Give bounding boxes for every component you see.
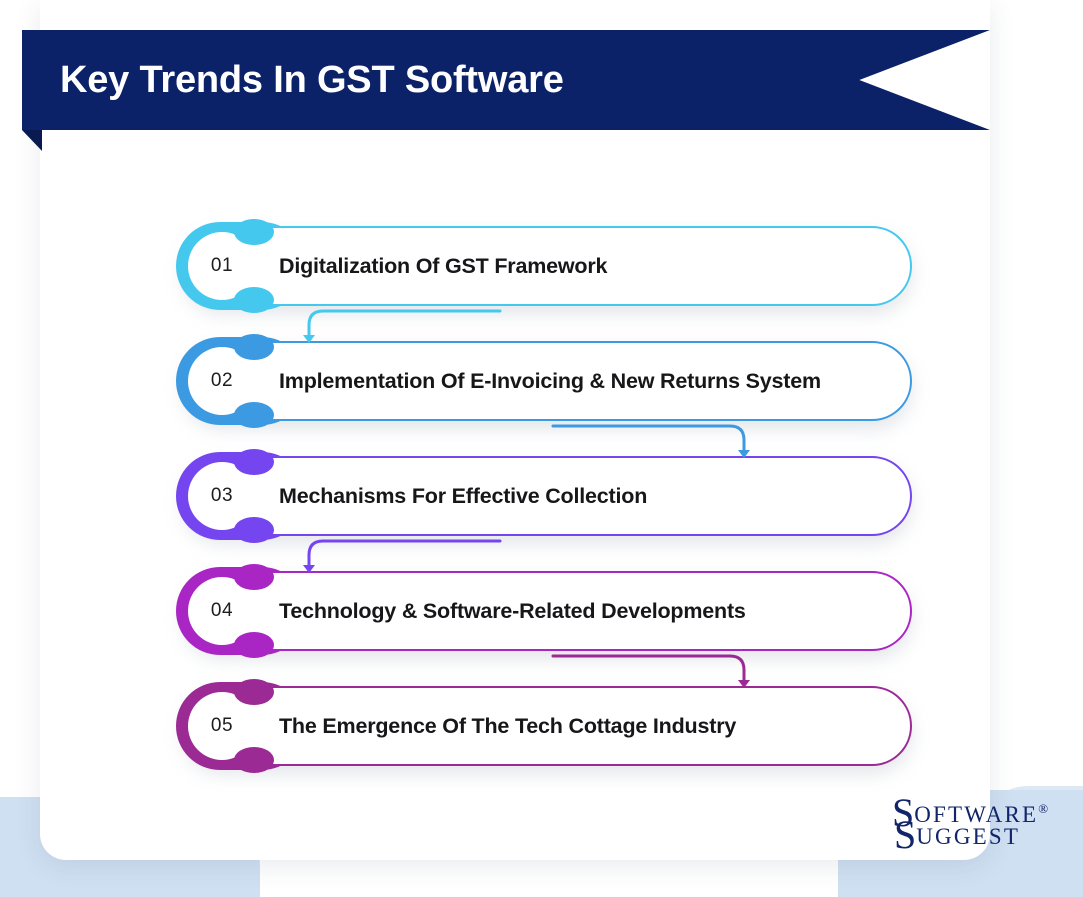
trend-row[interactable]: 03Mechanisms For Effective Collection <box>176 452 912 540</box>
trend-row[interactable]: 05The Emergence Of The Tech Cottage Indu… <box>176 682 912 770</box>
trend-row-number: 01 <box>188 232 256 300</box>
trend-row[interactable]: 04Technology & Software-Related Developm… <box>176 567 912 655</box>
trend-connector-arrow <box>295 535 505 585</box>
trend-row[interactable]: 02Implementation Of E-Invoicing & New Re… <box>176 337 912 425</box>
trend-connector-arrow <box>548 420 758 470</box>
trend-connector-arrow <box>548 650 758 700</box>
trend-row-number: 03 <box>188 462 256 530</box>
trend-row-label: Digitalization Of GST Framework <box>279 226 607 306</box>
registered-icon: ® <box>1038 801 1048 816</box>
trend-row-number: 05 <box>188 692 256 760</box>
trend-row-number: 04 <box>188 577 256 645</box>
trend-connector-arrow <box>295 305 505 355</box>
brand-logo-line-2: SUGGEST <box>894 815 1050 845</box>
trend-list: 01Digitalization Of GST Framework02Imple… <box>0 0 1083 897</box>
brand-logo-s2: S <box>894 812 916 857</box>
brand-logo-word2: UGGEST <box>916 824 1020 849</box>
brand-logo: SOFTWARE® SUGGEST <box>892 793 1048 853</box>
trend-row-number: 02 <box>188 347 256 415</box>
trend-row[interactable]: 01Digitalization Of GST Framework <box>176 222 912 310</box>
